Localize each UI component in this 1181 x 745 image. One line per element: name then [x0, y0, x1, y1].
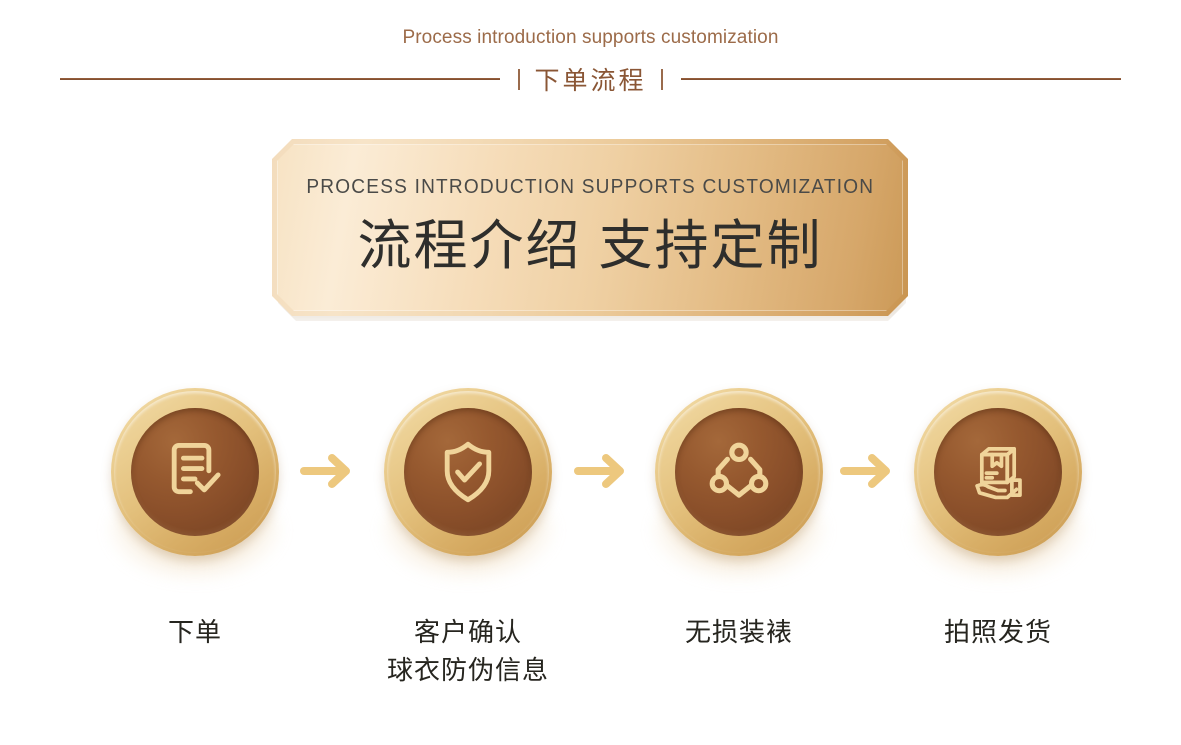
step-2-label-line2: 球衣防伪信息 [363, 652, 573, 690]
step-1-face [131, 408, 259, 536]
page-title: 下单流程 [534, 61, 646, 97]
step-item-1[interactable]: 下单 [90, 388, 300, 652]
step-1-label: 下单 [90, 614, 300, 652]
step-3-face [675, 408, 803, 536]
step-4-face [934, 408, 1062, 536]
header-divider-left [60, 78, 500, 80]
header-eyebrow-text: Process introduction supports customizat… [0, 27, 1181, 49]
step-2-label-line1: 客户确认 [414, 618, 522, 647]
step-2-face [404, 408, 532, 536]
step-4-coin [914, 388, 1082, 556]
header-title-row: 下单流程 [0, 62, 1181, 96]
page-header: Process introduction supports customizat… [0, 0, 1181, 108]
step-3-label: 无损装裱 [634, 614, 844, 652]
arrow-right-icon-3 [838, 448, 900, 494]
step-1-coin [111, 388, 279, 556]
network-nodes-icon [702, 435, 776, 509]
step-2-label: 客户确认 球衣防伪信息 [363, 614, 573, 689]
header-divider-right [681, 78, 1121, 80]
hand-package-icon [961, 435, 1035, 509]
step-3-coin [655, 388, 823, 556]
banner-english-subtitle: PROCESS INTRODUCTION SUPPORTS CUSTOMIZAT… [306, 175, 874, 199]
step-3-label-line1: 无损装裱 [685, 618, 793, 647]
banner-content: PROCESS INTRODUCTION SUPPORTS CUSTOMIZAT… [272, 139, 908, 316]
step-item-4[interactable]: 拍照发货 [893, 388, 1103, 652]
header-title-group: 下单流程 [518, 61, 662, 97]
title-bar-right-icon [661, 69, 663, 90]
arrow-right-icon-1 [298, 448, 360, 494]
step-4-label-line1: 拍照发货 [944, 618, 1052, 647]
step-4-label: 拍照发货 [893, 614, 1103, 652]
process-steps: 下单 客户确认 球衣防伪 [0, 388, 1181, 698]
step-1-label-line1: 下单 [168, 618, 222, 647]
step-2-coin [384, 388, 552, 556]
gold-banner: PROCESS INTRODUCTION SUPPORTS CUSTOMIZAT… [272, 139, 908, 319]
shield-check-icon [431, 435, 505, 509]
document-check-icon [158, 435, 232, 509]
step-item-2[interactable]: 客户确认 球衣防伪信息 [363, 388, 573, 689]
arrow-right-icon-2 [572, 448, 634, 494]
step-item-3[interactable]: 无损装裱 [634, 388, 844, 652]
banner-chinese-title: 流程介绍 支持定制 [357, 201, 822, 280]
title-bar-left-icon [518, 69, 520, 90]
